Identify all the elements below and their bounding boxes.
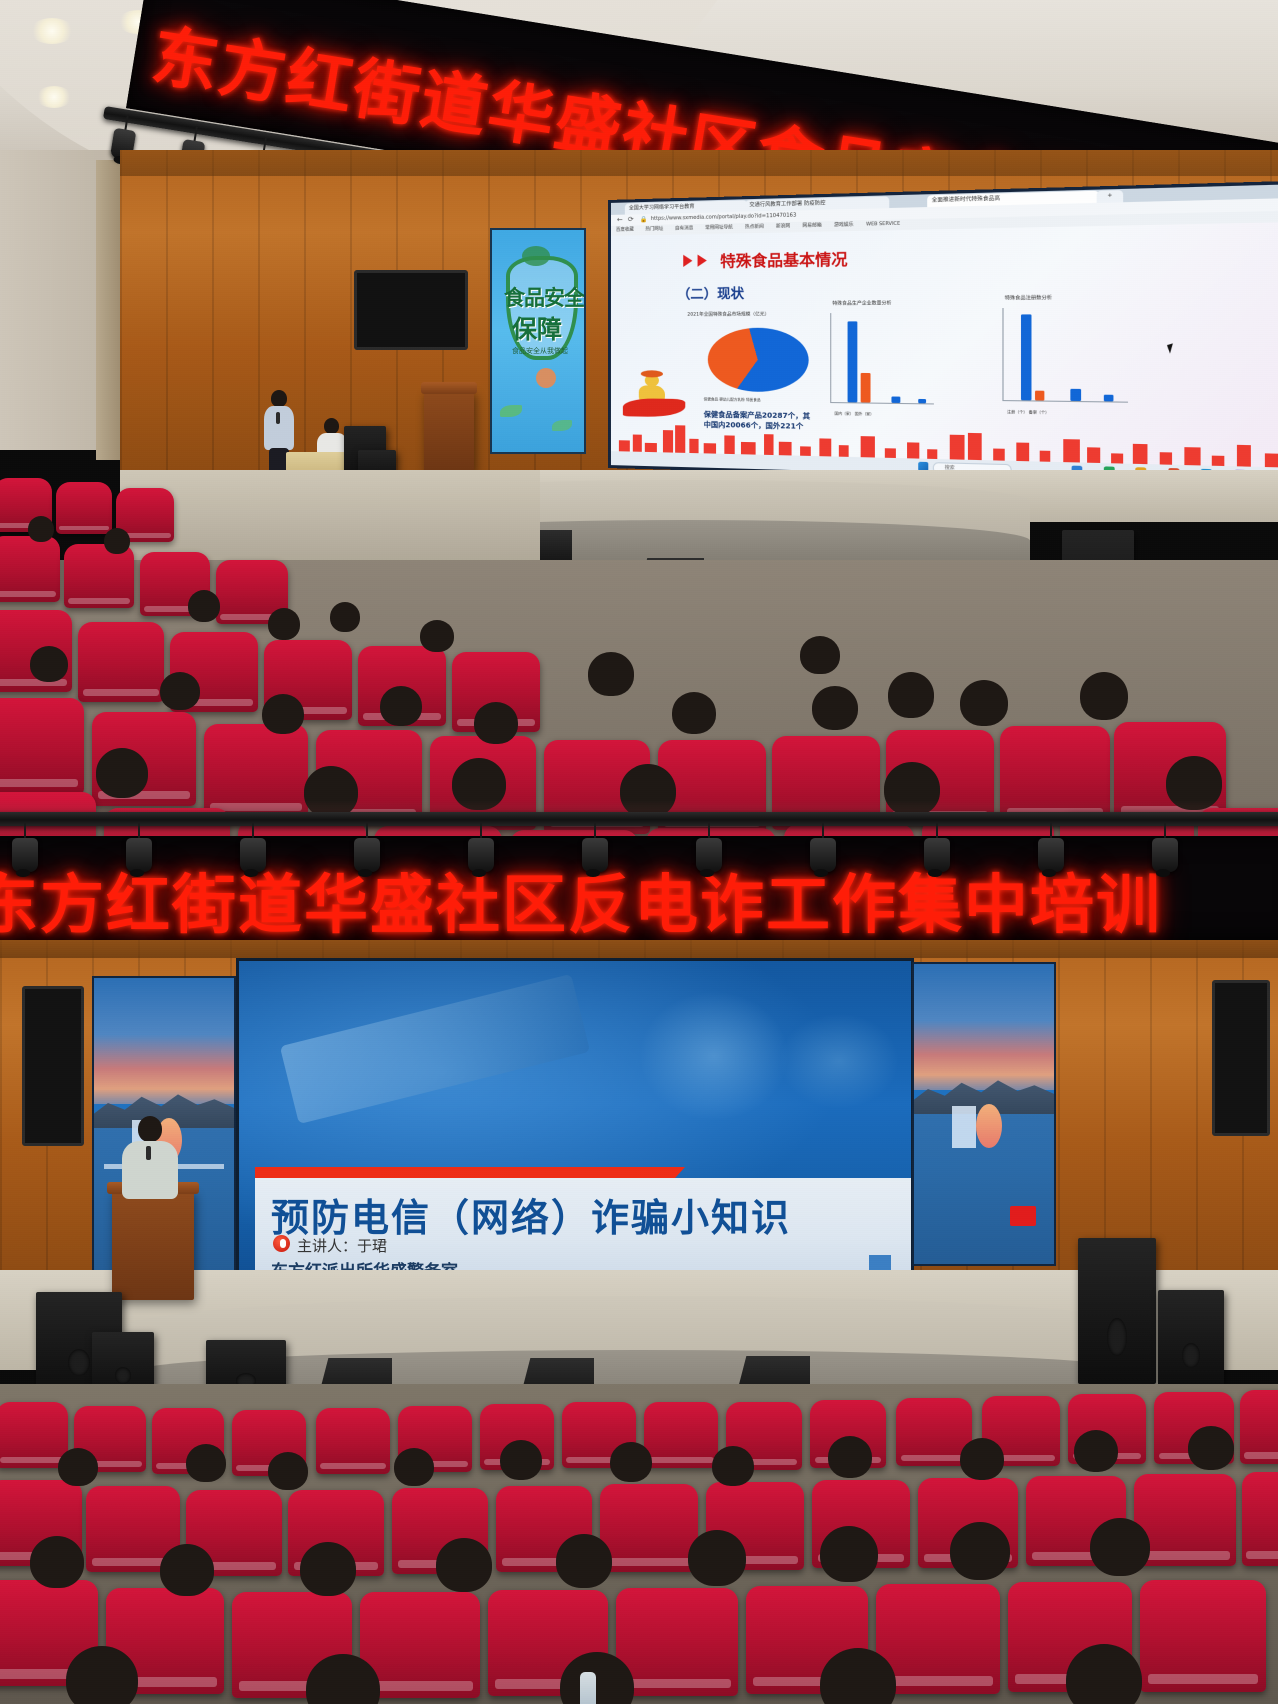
audience-seating-bottom: [0, 1340, 1278, 1704]
chart-bar1-axis: [830, 313, 831, 403]
logo-badge: [1010, 1206, 1036, 1226]
chart-bar1-legend: 国内（家） 国外（家）: [835, 411, 874, 417]
handheld-microphone-icon: [276, 412, 280, 424]
chart-pie-title: 2021年全国特殊食品市场规模（亿元）: [687, 311, 769, 317]
presenter-badge-icon: [273, 1235, 290, 1252]
water-bottle: [580, 1672, 596, 1704]
wood-wall-top-shadow: [0, 940, 1278, 958]
chart-bar2-legend: 注册（个） 备案（个）: [1007, 410, 1049, 416]
slide-header: 特殊食品基本情况: [720, 248, 847, 272]
side-screen-line3: 食品安全从我做起: [512, 346, 568, 356]
bookmark-item[interactable]: 热点新闻: [745, 222, 764, 233]
chart-bar1-bar-2: [861, 373, 871, 403]
bookmark-item[interactable]: 自有消息: [675, 224, 693, 235]
side-screen-food-safety: 食品安全 保障 食品安全从我做起: [490, 228, 586, 454]
side-screen-right-lake: [912, 962, 1056, 1266]
slide-accent-bar: [255, 1167, 667, 1178]
truss-fixtures-middle: [0, 822, 1278, 874]
slide-title-antifraud: 预防电信（网络）诈骗小知识: [271, 1187, 791, 1242]
presentation-slide: 特殊食品基本情况 （二）现状 2021年全国特殊食品市场规模（亿元） 保健食品 …: [611, 220, 1278, 469]
new-tab-button[interactable]: +: [1097, 190, 1124, 203]
slide-corner-mark: [869, 1255, 891, 1271]
bookmark-item[interactable]: 常用网址导航: [705, 223, 733, 234]
chart-bar1-bar-3: [891, 396, 900, 402]
back-arrow-icon[interactable]: ←: [617, 215, 623, 226]
bookmark-item[interactable]: 热门网址: [645, 225, 663, 235]
chart-bar2-title: 特殊食品注册数分析: [1005, 295, 1052, 302]
pie-chart: [708, 328, 809, 393]
triangle-marker-icon: [683, 255, 692, 267]
bookmark-item[interactable]: 游戏娱乐: [834, 220, 854, 231]
slide-presenter-line: 主讲人：于珺: [297, 1235, 387, 1256]
chart-bar2-bar-4: [1104, 395, 1114, 402]
bookmark-item[interactable]: 网易邮箱: [802, 221, 821, 232]
composite-photo: 东方红街道华盛社区食品安全工作集中培训 食品安全 保障: [0, 0, 1278, 1704]
bookmark-item[interactable]: 百度收藏: [616, 225, 634, 235]
chart-bar1-title: 特殊食品生产企业数量分析: [832, 300, 891, 307]
bookmark-item[interactable]: WEB SERVICE: [866, 219, 900, 230]
handheld-microphone-icon: [146, 1146, 151, 1160]
led-video-wall-bottom: 预防电信（网络）诈骗小知识 主讲人：于珺 东方红派出所华盛警务室: [236, 958, 914, 1282]
wood-wall-shadow: [120, 150, 1278, 176]
wall-tv-panel-left: [22, 986, 84, 1146]
slide-viewport: 特殊食品基本情况 （二）现状 2021年全国特殊食品市场规模（亿元） 保健食品 …: [611, 220, 1278, 469]
wall-tv-panel: [354, 270, 468, 350]
downlight: [36, 86, 72, 108]
slide-section: （二）现状: [677, 283, 744, 303]
photo-top-food-safety-training: 东方红街道华盛社区食品安全工作集中培训 食品安全 保障: [0, 0, 1278, 940]
side-screen-line1: 食品安全: [504, 282, 584, 312]
chart-bar2-bar-3: [1070, 389, 1081, 401]
chart-bar1-bar-4: [918, 399, 926, 403]
reload-icon[interactable]: ⟳: [628, 214, 634, 225]
lock-icon: 🔒: [640, 214, 648, 225]
downlight: [30, 18, 74, 44]
chart-bar2-bar-2: [1035, 391, 1044, 401]
triangle-marker-icon: [698, 254, 707, 266]
chart-bar2-bar-1: [1021, 314, 1032, 400]
side-screen-line2: 保障: [512, 310, 562, 346]
chart-bar2-axis: [1002, 308, 1003, 401]
photo-bottom-antifraud-training: 预防电信（网络）诈骗小知识 主讲人：于珺 东方红派出所华盛警务室: [0, 940, 1278, 1704]
police-speaker-bottom: [120, 1116, 180, 1204]
wall-column: [96, 160, 122, 460]
chart-bar1-bar-1: [848, 321, 858, 402]
bookmark-item[interactable]: 新浪网: [776, 222, 790, 233]
presenter-name: 于珺: [357, 1237, 387, 1255]
podium-bottom: [112, 1190, 194, 1300]
chart-pie-legend: 保健食品 婴幼儿配方乳粉 特医食品: [704, 397, 761, 403]
wall-tv-panel-right: [1212, 980, 1270, 1136]
presenter-prefix: 主讲人：: [297, 1237, 357, 1255]
